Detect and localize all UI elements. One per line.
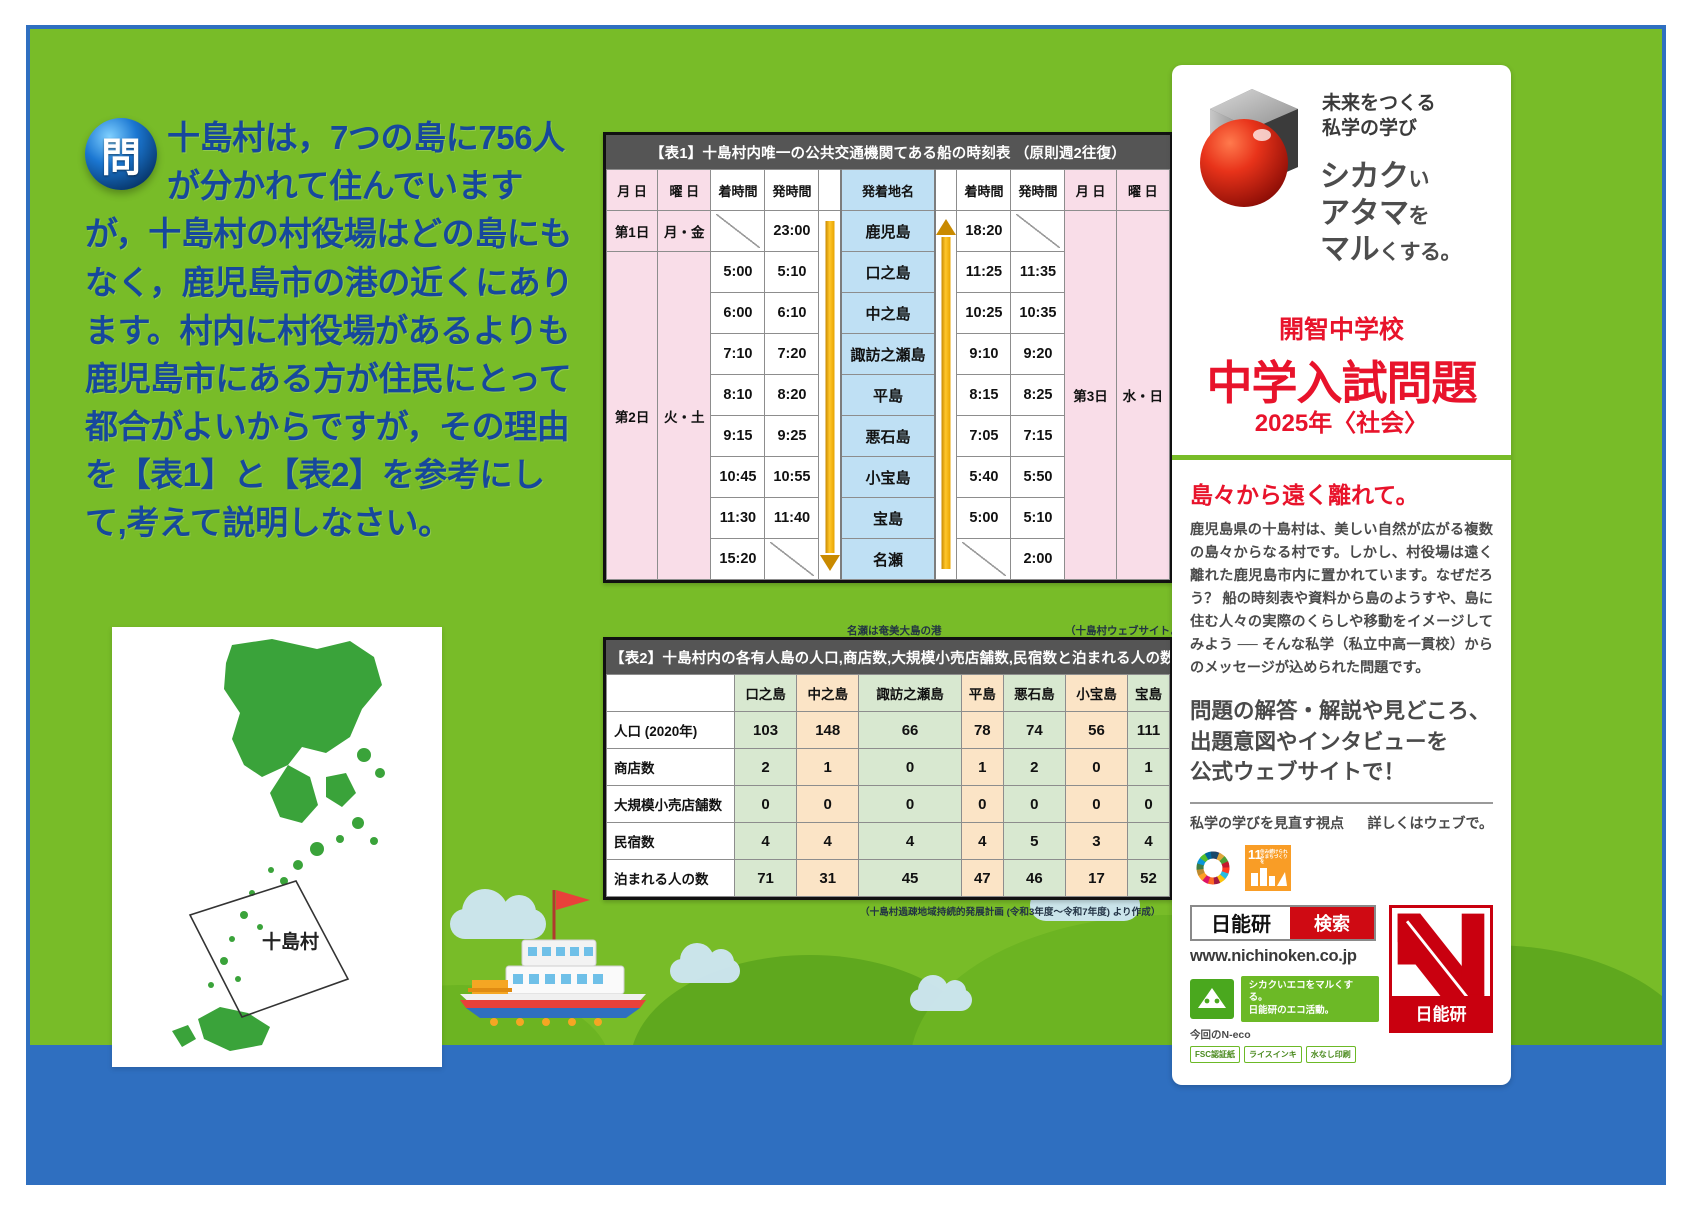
table1-place-name: 平島: [841, 375, 935, 416]
poster-stage: 問 十島村は，7つの島に756人が分かれて住んでいますが，十島村の村役場はどの島…: [30, 29, 1662, 1173]
n-eco-label: 今回のN-eco: [1190, 1027, 1379, 1042]
eco-chip: 水なし印刷: [1306, 1046, 1356, 1063]
table2-row-label: 人口 (2020年): [607, 712, 735, 749]
poster-root: 問 十島村は，7つの島に756人が分かれて住んでいますが，十島村の村役場はどの島…: [0, 0, 1692, 1208]
table2-cell: 45: [859, 860, 962, 897]
table1-depart-in: [1011, 211, 1065, 252]
table1-weekday-left: 火・土: [658, 252, 711, 580]
table1-depart-out: 10:55: [765, 457, 819, 498]
search-input[interactable]: 日能研: [1192, 907, 1290, 939]
table1-place-name: 口之島: [841, 252, 935, 293]
table1-arrive-out: 5:00: [711, 252, 765, 293]
table1-weekday-right: 水・日: [1116, 211, 1169, 580]
ad-small-left: 私学の学びを見直す視点: [1190, 813, 1344, 833]
table1-row: 第1日 月・金23:00 鹿児島 18:20第3日 水・日: [607, 211, 1170, 252]
table2-cell: 0: [1128, 786, 1170, 823]
table1-arrive-in: 7:05: [957, 416, 1011, 457]
ad-cta-line1: 問題の解答・解説や見どころ、: [1190, 696, 1493, 727]
neco-row: シカクいエコをマルくする。 日能研のエコ活動。: [1190, 976, 1379, 1022]
table1-depart-in: 7:15: [1011, 416, 1065, 457]
table2-cell: 4: [859, 823, 962, 860]
table1-col-place: 発着地名: [841, 170, 935, 211]
table1-col-date-left: 月 日: [607, 170, 658, 211]
ad-cta-line3: 公式ウェブサイトで！: [1190, 757, 1493, 788]
table1-depart-out: 6:10: [765, 293, 819, 334]
table2-cell: 47: [961, 860, 1003, 897]
table1-depart-in: 5:10: [1011, 498, 1065, 539]
table1-depart-out: [765, 539, 819, 580]
map-card: 十島村: [112, 627, 442, 1067]
ad-branding-header: 未来をつくる 私学の学び シカクい アタマを マルくする。 開智中学校 中学入試…: [1172, 65, 1511, 455]
table1-place-name: 小宝島: [841, 457, 935, 498]
table1-place-name: 宝島: [841, 498, 935, 539]
table2-cell: 0: [859, 749, 962, 786]
table2-row: 大規模小売店舗数0000000: [607, 786, 1170, 823]
exam-year: 2025年〈社会〉: [1172, 403, 1511, 438]
brand-subtitle-line1: 未来をつくる: [1322, 91, 1436, 116]
ad-small-note: 私学の学びを見直す視点 詳しくはウェブで。: [1190, 813, 1493, 833]
sdg-row: 11 住み続けられるまちづくりを: [1190, 845, 1493, 891]
table1-depart-in: 2:00: [1011, 539, 1065, 580]
table1-caption: 【表1】十島村内唯一の公共交通機関てある船の時刻表 （原則週2往復）: [606, 135, 1170, 169]
table2-cell: 71: [735, 860, 797, 897]
ad-call-to-action: 問題の解答・解説や見どころ、 出題意図やインタビューを 公式ウェブサイトで！: [1190, 696, 1493, 788]
table2-col-header: 口之島: [735, 675, 797, 712]
table1-arrive-out: 8:10: [711, 375, 765, 416]
table2-col-header: 諏訪之瀬島: [859, 675, 962, 712]
table2-row: 泊まれる人の数71314547461752: [607, 860, 1170, 897]
table2-cell: 0: [1003, 786, 1065, 823]
table1-day-right: 第3日: [1065, 211, 1116, 580]
cube-sphere-logo-icon: [1190, 75, 1312, 210]
table2-cell: 0: [797, 786, 859, 823]
table2-cell: 66: [859, 712, 962, 749]
table1-depart-out: 11:40: [765, 498, 819, 539]
table1-col-arrow-out: [819, 170, 841, 211]
brand-subtitle: 未来をつくる 私学の学び: [1322, 91, 1436, 141]
table1-place-name: 名瀬: [841, 539, 935, 580]
table1-depart-out: 23:00: [765, 211, 819, 252]
table2-cell: 52: [1128, 860, 1170, 897]
table1-col-depart-in: 発時間: [1011, 170, 1065, 211]
table2-cell: 46: [1003, 860, 1065, 897]
table2-cell: 103: [735, 712, 797, 749]
table2-cell: 4: [797, 823, 859, 860]
brand-tagline: シカクい アタマを マルくする。: [1320, 159, 1461, 269]
nichinoken-ad-panel: 未来をつくる 私学の学び シカクい アタマを マルくする。 開智中学校 中学入試…: [1172, 65, 1511, 1085]
site-search-box[interactable]: 日能研 検索: [1190, 905, 1376, 941]
table2: 口之島中之島諏訪之瀬島平島悪石島小宝島宝島 人口 (2020年)10314866…: [606, 674, 1170, 897]
table1-arrive-in: 11:25: [957, 252, 1011, 293]
search-button[interactable]: 検索: [1290, 907, 1374, 939]
table2-cell: 111: [1128, 712, 1170, 749]
kagoshima-map-svg: [112, 627, 442, 1067]
table1-col-depart-out: 発時間: [765, 170, 819, 211]
table1-header-row: 月 日 曜 日 着時間 発時間 発着地名 着時間 発時間 月 日 曜 日: [607, 170, 1170, 211]
table2-col-header: 中之島: [797, 675, 859, 712]
brand-tagline-line2: アタマを: [1320, 196, 1461, 233]
sdg-city-glyph: [1249, 864, 1289, 888]
ad-small-right: 詳しくはウェブで。: [1368, 813, 1493, 833]
question-badge-icon: 問: [85, 118, 157, 190]
table2-row-label: 商店数: [607, 749, 735, 786]
n-eco-mark-icon: [1190, 979, 1234, 1019]
table1-place-name: 中之島: [841, 293, 935, 334]
school-name: 開智中学校: [1172, 310, 1511, 346]
table1-arrive-in: [957, 539, 1011, 580]
cloud-icon: [670, 959, 740, 983]
table1-arrive-in: 8:15: [957, 375, 1011, 416]
ad-cta-line2: 出題意図やインタビューを: [1190, 727, 1493, 758]
table1-arrive-in: 10:25: [957, 293, 1011, 334]
table2-cell: 0: [735, 786, 797, 823]
question-block: 問 十島村は，7つの島に756人が分かれて住んでいますが，十島村の村役場はどの島…: [85, 114, 585, 548]
ad-paragraph: 鹿児島県の十島村は、美しい自然が広がる複数の島々からなる村です。しかし、村役場は…: [1190, 519, 1493, 680]
sdg-goal-text: 住み続けられるまちづくりを: [1260, 849, 1291, 864]
table2-cell: 0: [961, 786, 1003, 823]
table2-cell: 5: [1003, 823, 1065, 860]
table1-place-name: 悪石島: [841, 416, 935, 457]
table1-arrive-out: 10:45: [711, 457, 765, 498]
eco-chip: ライスインキ: [1244, 1046, 1302, 1063]
table1-arrive-out: 6:00: [711, 293, 765, 334]
table1-arrive-in: 9:10: [957, 334, 1011, 375]
table1-arrive-in: 5:40: [957, 457, 1011, 498]
table1-outbound-arrow-icon: [819, 211, 841, 580]
table2-row-label: 民宿数: [607, 823, 735, 860]
table1-depart-in: 11:35: [1011, 252, 1065, 293]
table2-note: （十島村過疎地域持続的発展計画 (令和3年度～令和7年度) より作成）: [860, 904, 1160, 918]
table2-cell: 2: [735, 749, 797, 786]
table2-row: 民宿数4444534: [607, 823, 1170, 860]
table2-cell: 1: [1128, 749, 1170, 786]
table2-panel: 【表2】十島村内の各有人島の人口,商店数,大規模小売店舗数,民宿数と泊まれる人の…: [603, 637, 1173, 900]
ad-body: 島々から遠く離れて。 鹿児島県の十島村は、美しい自然が広がる複数の島々からなる村…: [1172, 460, 1511, 1063]
table2-col-header: 悪石島: [1003, 675, 1065, 712]
table1-depart-in: 8:25: [1011, 375, 1065, 416]
table1-arrive-out: 11:30: [711, 498, 765, 539]
cloud-icon: [910, 989, 972, 1011]
n-eco-message-line2: 日能研のエコ活動。: [1249, 1005, 1371, 1018]
table1-col-date-right: 月 日: [1065, 170, 1116, 211]
table1-inbound-arrow-icon: [935, 211, 957, 580]
table2-cell: 1: [961, 749, 1003, 786]
table2-cell: 3: [1065, 823, 1127, 860]
table1-col-arrow-in: [935, 170, 957, 211]
table2-row-label: 大規模小売店舗数: [607, 786, 735, 823]
search-and-url-group: 日能研 検索 www.nichinoken.co.jp シカクいエコをマルくする…: [1190, 905, 1379, 1063]
map-label: 十島村: [262, 927, 319, 954]
table1-col-arrive-in: 着時間: [957, 170, 1011, 211]
table1-arrive-out: 9:15: [711, 416, 765, 457]
table2-corner-cell: [607, 675, 735, 712]
table2-cell: 148: [797, 712, 859, 749]
eco-chip: FSC認証紙: [1190, 1046, 1240, 1063]
table2-cell: 78: [961, 712, 1003, 749]
brand-tagline-line3: マルくする。: [1320, 232, 1461, 269]
table1-depart-in: 5:50: [1011, 457, 1065, 498]
ad-rule: [1190, 802, 1493, 804]
table2-col-header: 平島: [961, 675, 1003, 712]
table2-cell: 0: [1065, 749, 1127, 786]
table1-arrive-out: [711, 211, 765, 252]
table1-depart-in: 10:35: [1011, 293, 1065, 334]
table2-cell: 56: [1065, 712, 1127, 749]
nichinoken-logo: 日能研: [1389, 905, 1493, 1033]
question-text: 十島村は，7つの島に756人が分かれて住んでいますが，十島村の村役場はどの島にも…: [85, 114, 585, 548]
table1-col-arrive-out: 着時間: [711, 170, 765, 211]
table1-depart-in: 9:20: [1011, 334, 1065, 375]
eco-chip-list: FSC認証紙ライスインキ水なし印刷: [1190, 1046, 1379, 1063]
table2-cell: 0: [1065, 786, 1127, 823]
table1-arrive-in: 18:20: [957, 211, 1011, 252]
table2-col-header: 小宝島: [1065, 675, 1127, 712]
table1-depart-out: 9:25: [765, 416, 819, 457]
table2-cell: 0: [859, 786, 962, 823]
table1: 月 日 曜 日 着時間 発時間 発着地名 着時間 発時間 月 日 曜 日 第1日: [606, 169, 1170, 580]
table2-caption: 【表2】十島村内の各有人島の人口,商店数,大規模小売店舗数,民宿数と泊まれる人の…: [606, 640, 1170, 674]
table2-cell: 2: [1003, 749, 1065, 786]
table1-weekday-left: 月・金: [658, 211, 711, 252]
sdg-goal-11-icon: 11 住み続けられるまちづくりを: [1245, 845, 1291, 891]
n-eco-message: シカクいエコをマルくする。 日能研のエコ活動。: [1241, 976, 1379, 1022]
table1-place-name: 鹿児島: [841, 211, 935, 252]
table1-arrive-out: 7:10: [711, 334, 765, 375]
table2-row-label: 泊まれる人の数: [607, 860, 735, 897]
nichinoken-logo-caption: 日能研: [1392, 996, 1490, 1030]
table1-day-left: 第2日: [607, 252, 658, 580]
table1-place-name: 諏訪之瀬島: [841, 334, 935, 375]
table2-cell: 4: [735, 823, 797, 860]
table2-cell: 17: [1065, 860, 1127, 897]
table1-body: 第1日 月・金23:00 鹿児島 18:20第3日 水・日第2日 火・土5:00…: [607, 211, 1170, 580]
brand-subtitle-line2: 私学の学び: [1322, 116, 1436, 141]
table2-row: 商店数2101201: [607, 749, 1170, 786]
table2-header-row: 口之島中之島諏訪之瀬島平島悪石島小宝島宝島: [607, 675, 1170, 712]
table1-col-weekday-left: 曜 日: [658, 170, 711, 211]
table2-body: 人口 (2020年)10314866787456111商店数2101201大規模…: [607, 712, 1170, 897]
ship-illustration: [450, 884, 680, 1039]
table1-depart-out: 8:20: [765, 375, 819, 416]
search-and-logo-row: 日能研 検索 www.nichinoken.co.jp シカクいエコをマルくする…: [1190, 905, 1493, 1063]
table2-cell: 4: [1128, 823, 1170, 860]
table1-arrive-out: 15:20: [711, 539, 765, 580]
table2-cell: 74: [1003, 712, 1065, 749]
table1-col-weekday-right: 曜 日: [1116, 170, 1169, 211]
table1-note-left: 名瀬は奄美大島の港: [847, 623, 942, 638]
table2-col-header: 宝島: [1128, 675, 1170, 712]
table1-panel: 【表1】十島村内唯一の公共交通機関てある船の時刻表 （原則週2往復） 月 日 曜…: [603, 132, 1173, 583]
website-url[interactable]: www.nichinoken.co.jp: [1190, 947, 1379, 966]
table1-day-left: 第1日: [607, 211, 658, 252]
table1-depart-out: 5:10: [765, 252, 819, 293]
ad-headline: 島々から遠く離れて。: [1190, 476, 1493, 510]
sdg-wheel-icon: [1190, 845, 1236, 891]
table2-cell: 4: [961, 823, 1003, 860]
table1-arrive-in: 5:00: [957, 498, 1011, 539]
brand-tagline-line1: シカクい: [1320, 159, 1461, 196]
table2-row: 人口 (2020年)10314866787456111: [607, 712, 1170, 749]
table1-depart-out: 7:20: [765, 334, 819, 375]
n-eco-message-line1: シカクいエコをマルくする。: [1249, 980, 1371, 1006]
table2-cell: 1: [797, 749, 859, 786]
table2-cell: 31: [797, 860, 859, 897]
